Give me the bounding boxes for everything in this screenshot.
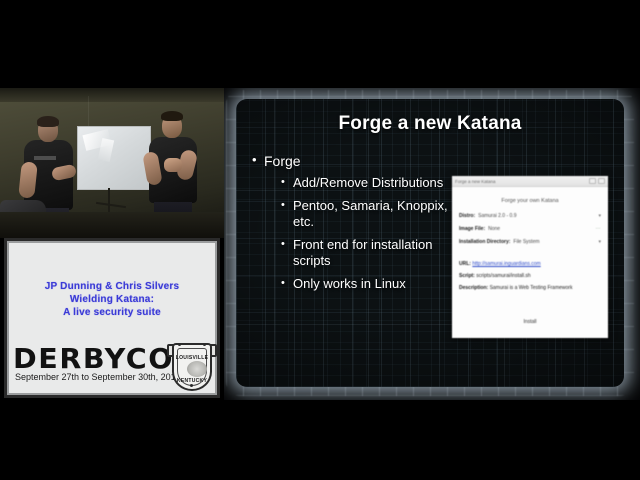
title-card: JP Dunning & Chris Silvers Wielding Kata… xyxy=(4,238,220,398)
field-value: File System xyxy=(513,239,596,245)
field-image-file[interactable]: Image File: None ⋯ xyxy=(459,226,601,232)
title-line-2: Wielding Katana: xyxy=(70,293,154,306)
title-line-3: A live security suite xyxy=(63,306,161,319)
screen-capture: JP Dunning & Chris Silvers Wielding Kata… xyxy=(0,0,640,480)
field-label: Image File: xyxy=(459,226,485,232)
info-value: scripts/samurai/install.sh xyxy=(476,273,530,279)
slide-bullet-list: Forge Add/Remove Distributions Pentoo, S… xyxy=(250,151,450,299)
dialog-title-bar: Forge a new Katana xyxy=(452,176,608,187)
badge-top-text: LOUISVILLE xyxy=(174,355,210,361)
info-label: URL: xyxy=(459,261,471,267)
close-icon[interactable] xyxy=(598,178,605,184)
title-card-text: JP Dunning & Chris Silvers Wielding Kata… xyxy=(9,243,215,345)
dialog-window-title: Forge a new Katana xyxy=(455,179,589,184)
field-value: None xyxy=(488,226,595,232)
dialog-heading: Forge your own Katana xyxy=(459,198,601,204)
minimize-icon[interactable] xyxy=(589,178,596,184)
bullet-level1: Forge xyxy=(250,151,450,171)
title-line-1: JP Dunning & Chris Silvers xyxy=(45,280,180,293)
info-label: Description: xyxy=(459,285,488,291)
slide-title: Forge a new Katana xyxy=(236,113,624,135)
info-label: Script: xyxy=(459,273,475,279)
field-distro[interactable]: Distro: Samurai 2.0 - 0.9 ▾ xyxy=(459,213,601,219)
webcam-feed xyxy=(0,88,224,238)
whiteboard xyxy=(77,126,151,190)
divider xyxy=(459,252,601,261)
field-label: Installation Directory: xyxy=(459,239,510,245)
dialog-body: Forge your own Katana Distro: Samurai 2.… xyxy=(452,187,608,303)
easel-brace xyxy=(96,202,126,208)
video-content-band: JP Dunning & Chris Silvers Wielding Kata… xyxy=(0,88,640,400)
field-installation-directory[interactable]: Installation Directory: File System ▾ xyxy=(459,239,601,245)
louisville-kentucky-badge-icon: LOUISVILLE KENTUCKY xyxy=(167,341,213,391)
slide-surface: Forge a new Katana Forge Add/Remove Dist… xyxy=(236,99,624,387)
field-value: Samurai 2.0 - 0.9 xyxy=(478,213,596,219)
browse-icon[interactable]: ⋯ xyxy=(596,226,602,232)
bullet-level2: Only works in Linux xyxy=(280,276,450,292)
info-value: Samurai is a Web Testing Framework xyxy=(490,285,573,291)
projected-slide: Forge a new Katana Forge Add/Remove Dist… xyxy=(224,88,640,400)
bullet-level2: Add/Remove Distributions xyxy=(280,175,450,191)
forge-dialog-screenshot: Forge a new Katana Forge your own Katana… xyxy=(452,176,608,338)
dialog-footer: Install xyxy=(452,310,608,338)
info-description: Description: Samurai is a Web Testing Fr… xyxy=(459,285,601,291)
field-label: Distro: xyxy=(459,213,475,219)
install-button[interactable]: Install xyxy=(517,318,542,326)
chevron-down-icon[interactable]: ▾ xyxy=(598,213,601,219)
info-script: Script: scripts/samurai/install.sh xyxy=(459,273,601,279)
info-url: URL: http://samurai.inguardians.com xyxy=(459,261,601,267)
chevron-down-icon[interactable]: ▾ xyxy=(598,239,601,245)
url-link[interactable]: http://samurai.inguardians.com xyxy=(472,261,540,267)
conference-footer: DERBYCON September 27th to September 30t… xyxy=(9,345,215,393)
bullet-level2: Front end for installation scripts xyxy=(280,237,450,269)
bullet-level2: Pentoo, Samaria, Knoppix, etc. xyxy=(280,198,450,230)
window-controls xyxy=(589,178,605,184)
